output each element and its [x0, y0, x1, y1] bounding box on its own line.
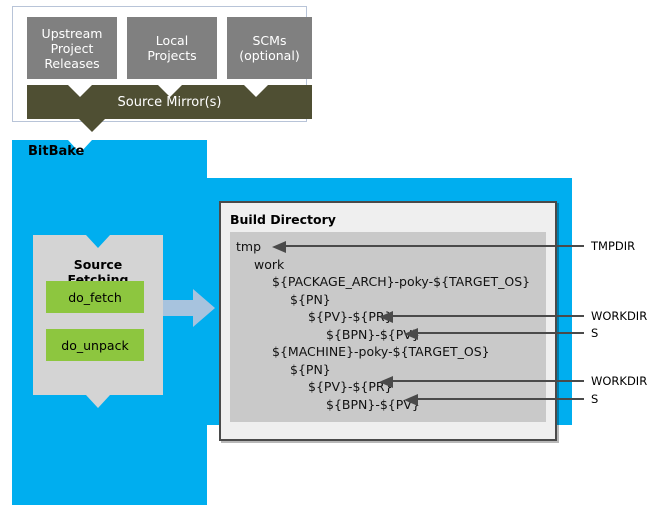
build-directory-title: Build Directory	[230, 212, 336, 227]
callout-label-tmpdir: TMPDIR	[591, 239, 635, 253]
task-label: do_fetch	[68, 290, 122, 305]
sources-container: Upstream Project Releases Local Projects…	[12, 6, 307, 122]
callout-label-workdir: WORKDIR	[591, 309, 647, 323]
source-box-label: SCMs (optional)	[239, 33, 299, 63]
path-tree-line: ${PN}	[236, 361, 546, 379]
mirror-outlet-arrow-icon	[79, 119, 105, 132]
source-mirror-label: Source Mirror(s)	[118, 95, 222, 110]
mirror-inlet-notch-icon	[68, 85, 92, 97]
callout-arrow-line	[417, 398, 584, 400]
callout-label-s: S	[591, 326, 598, 340]
path-tree-line: ${MACHINE}-poky-${TARGET_OS}	[236, 343, 546, 361]
callout-arrow-line	[392, 380, 584, 382]
source-box-local-projects: Local Projects	[127, 17, 217, 79]
task-do-unpack[interactable]: do_unpack	[46, 329, 144, 361]
callout-arrow-line	[285, 245, 584, 247]
task-do-fetch[interactable]: do_fetch	[46, 281, 144, 313]
path-tree-line: ${BPN}-${PV}	[236, 326, 546, 344]
callout-label-workdir: WORKDIR	[591, 374, 647, 388]
source-box-upstream-project-releases: Upstream Project Releases	[27, 17, 117, 79]
source-mirror-bar: Source Mirror(s)	[27, 85, 312, 119]
mirror-inlet-notch-icon	[244, 85, 268, 97]
path-tree-line: ${PACKAGE_ARCH}-poky-${TARGET_OS}	[236, 273, 546, 291]
source-box-label: Upstream Project Releases	[42, 26, 103, 71]
path-tree-line: work	[236, 256, 546, 274]
bitbake-label: BitBake	[28, 144, 84, 159]
path-tree-line: ${PN}	[236, 291, 546, 309]
task-label: do_unpack	[61, 338, 128, 353]
callout-arrow-line	[392, 315, 584, 317]
source-box-scms-optional: SCMs (optional)	[227, 17, 312, 79]
callout-arrow-line	[417, 332, 584, 334]
callout-label-s: S	[591, 392, 598, 406]
source-box-label: Local Projects	[147, 33, 196, 63]
